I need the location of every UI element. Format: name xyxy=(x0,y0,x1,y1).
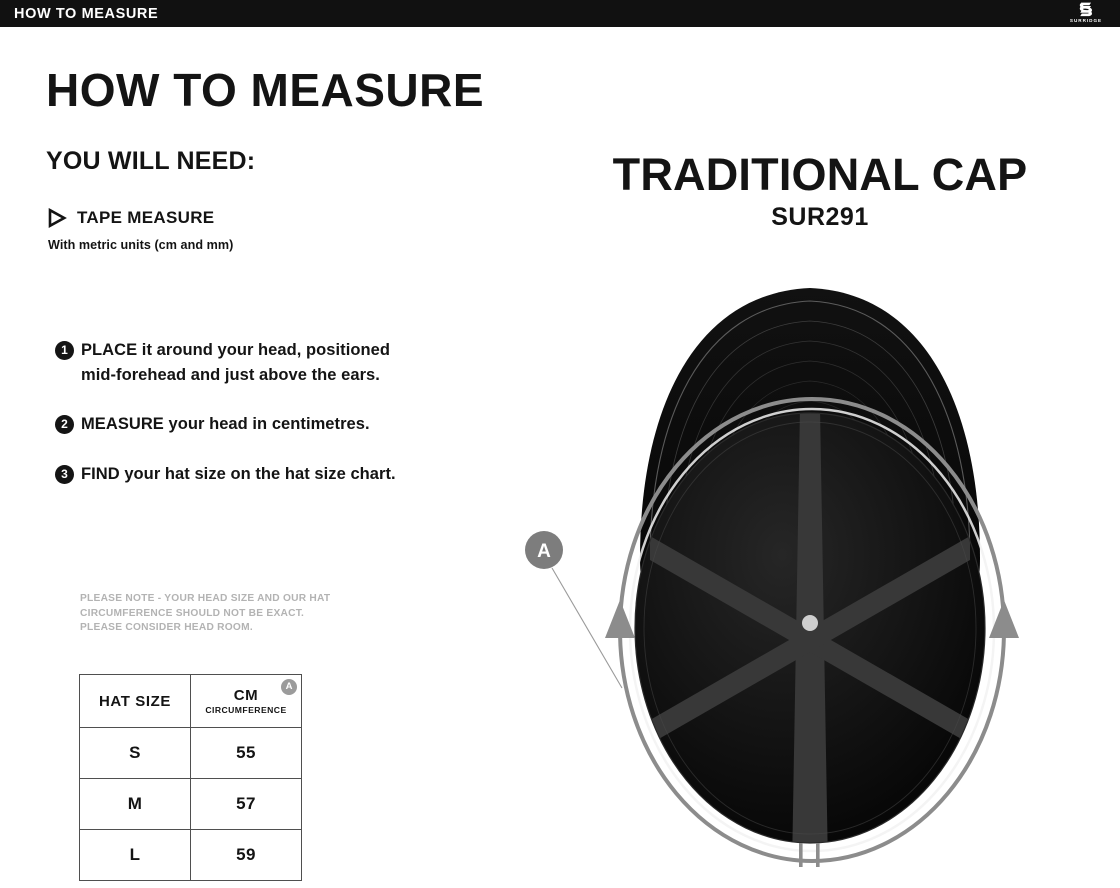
please-note-text: PLEASE NOTE - YOUR HEAD SIZE AND OUR HAT… xyxy=(80,592,400,636)
tool-item-tape-measure: TAPE MEASURE xyxy=(47,208,214,228)
top-bar: HOW TO MEASURE SURRIDGE xyxy=(0,0,1120,27)
brand-name: SURRIDGE xyxy=(1060,18,1112,24)
surridge-s-logo-icon xyxy=(1077,1,1095,18)
table-row: L 59 xyxy=(80,830,302,881)
step-item: 2 MEASURE your head in centimetres. xyxy=(55,412,425,437)
cell-value: 55 xyxy=(236,743,256,762)
cell-hat-size: M xyxy=(80,779,191,830)
callout-badge-a-label: A xyxy=(537,541,551,562)
hat-size-table: HAT SIZE CM CIRCUMFERENCE A S 55 M 57 L … xyxy=(79,674,302,881)
measure-tick-left xyxy=(799,843,803,867)
step-text: PLACE it around your head, positioned mi… xyxy=(81,338,425,387)
product-title: TRADITIONAL CAP xyxy=(520,148,1120,201)
step-number-badge: 3 xyxy=(55,465,74,484)
you-will-need-heading: YOU WILL NEED: xyxy=(46,145,255,177)
table-header-row: HAT SIZE CM CIRCUMFERENCE A xyxy=(80,675,302,728)
tool-sublabel: With metric units (cm and mm) xyxy=(48,237,233,253)
step-number-badge: 2 xyxy=(55,415,74,434)
top-bar-title: HOW TO MEASURE xyxy=(14,6,158,22)
step-number-badge: 1 xyxy=(55,341,74,360)
note-line: CIRCUMFERENCE SHOULD NOT BE EXACT. xyxy=(80,607,400,622)
measure-tick-right xyxy=(816,843,820,867)
cap-diagram: A xyxy=(500,268,1120,883)
cap-crown xyxy=(635,408,985,868)
tool-label: TAPE MEASURE xyxy=(77,208,214,228)
column-header-cm-sublabel: CIRCUMFERENCE xyxy=(191,705,301,716)
cell-value: S xyxy=(129,743,141,762)
product-code: SUR291 xyxy=(520,202,1120,233)
column-header-cm: CM CIRCUMFERENCE A xyxy=(191,675,302,728)
brand-logo: SURRIDGE xyxy=(1060,1,1112,26)
cell-cm: 59 xyxy=(191,830,302,881)
measurement-badge-a: A xyxy=(281,679,297,695)
cell-value: 57 xyxy=(236,794,256,813)
callout-a: A xyxy=(525,531,622,688)
cell-hat-size: S xyxy=(80,728,191,779)
table-row: M 57 xyxy=(80,779,302,830)
step-item: 3 FIND your hat size on the hat size cha… xyxy=(55,462,425,487)
cell-value: 59 xyxy=(236,845,256,864)
triangle-play-icon xyxy=(47,208,67,228)
crown-button-icon xyxy=(802,615,818,631)
step-text: MEASURE your head in centimetres. xyxy=(81,412,370,437)
table-row: S 55 xyxy=(80,728,302,779)
note-line: PLEASE NOTE - YOUR HEAD SIZE AND OUR HAT xyxy=(80,592,400,607)
cell-value: M xyxy=(128,794,143,813)
step-text: FIND your hat size on the hat size chart… xyxy=(81,462,396,487)
cell-cm: 55 xyxy=(191,728,302,779)
cell-value: L xyxy=(130,845,141,864)
column-header-hat-size: HAT SIZE xyxy=(80,675,191,728)
step-item: 1 PLACE it around your head, positioned … xyxy=(55,338,425,387)
cell-cm: 57 xyxy=(191,779,302,830)
cell-hat-size: L xyxy=(80,830,191,881)
column-header-hat-size-label: HAT SIZE xyxy=(80,692,190,711)
note-line: PLEASE CONSIDER HEAD ROOM. xyxy=(80,621,400,636)
steps-list: 1 PLACE it around your head, positioned … xyxy=(55,338,425,487)
page-title: HOW TO MEASURE xyxy=(46,62,484,118)
cap-top-view-illustration: A xyxy=(500,268,1120,883)
